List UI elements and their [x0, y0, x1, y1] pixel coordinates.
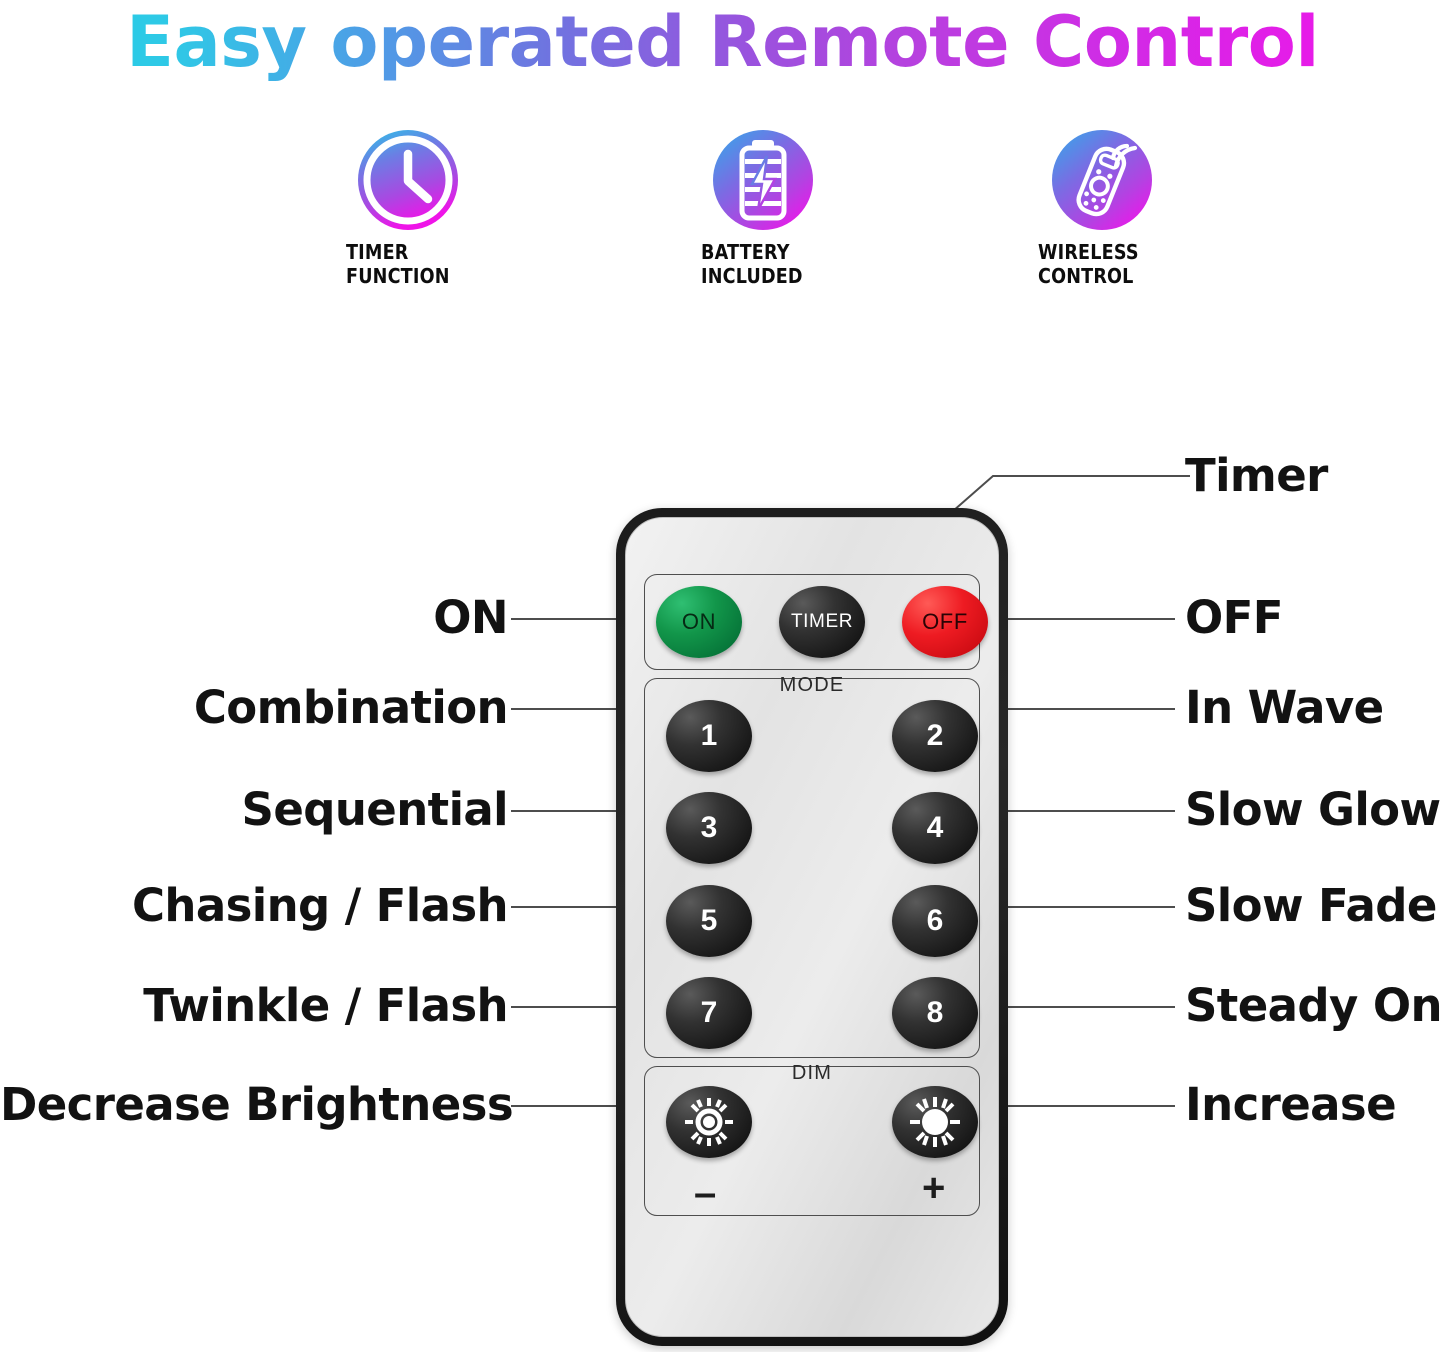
remote-button-mode-7[interactable]: 7 — [666, 977, 752, 1049]
remote-button-mode-2[interactable]: 2 — [892, 700, 978, 772]
button-label: 2 — [927, 719, 944, 753]
remote-button-dim-down[interactable] — [666, 1086, 752, 1158]
callout-decrease-brightness: Decrease Brightness — [0, 1079, 508, 1131]
button-label: OFF — [922, 609, 968, 635]
remote-button-mode-8[interactable]: 8 — [892, 977, 978, 1049]
infographic-canvas: Easy operated Remote Control — [0, 0, 1445, 1352]
battery-icon — [711, 128, 815, 232]
button-label: 6 — [927, 904, 944, 938]
callout-off: OFF — [1185, 592, 1283, 644]
callout-steady-on: Steady On — [1185, 980, 1442, 1032]
remote-control-device: ON TIMER OFF MODE 1 2 3 4 — [616, 508, 1008, 1346]
remote-button-on[interactable]: ON — [656, 586, 742, 658]
dim-group-label: DIM — [626, 1062, 998, 1085]
clock-icon — [356, 128, 460, 232]
button-label: ON — [682, 609, 716, 635]
brightness-low-icon — [682, 1095, 736, 1149]
remote-button-mode-1[interactable]: 1 — [666, 700, 752, 772]
button-label: 5 — [701, 904, 718, 938]
callout-slow-fade: Slow Fade — [1185, 880, 1437, 932]
remote-button-mode-5[interactable]: 5 — [666, 885, 752, 957]
button-label: 1 — [701, 719, 718, 753]
button-label: 8 — [927, 996, 944, 1030]
button-label: 7 — [701, 996, 718, 1030]
callout-twinkle-flash: Twinkle / Flash — [80, 980, 508, 1032]
page-title: Easy operated Remote Control — [0, 0, 1445, 88]
button-label: TIMER — [791, 611, 853, 633]
mode-group-label: MODE — [626, 674, 998, 697]
callout-combination: Combination — [80, 682, 508, 734]
feature-badge-row: TIMER FUNCTION — [310, 128, 1300, 313]
remote-faceplate: ON TIMER OFF MODE 1 2 3 4 — [625, 517, 999, 1337]
feature-label: TIMER FUNCTION — [346, 240, 578, 288]
remote-button-mode-6[interactable]: 6 — [892, 885, 978, 957]
remote-button-off[interactable]: OFF — [902, 586, 988, 658]
callout-chasing-flash: Chasing / Flash — [80, 880, 508, 932]
button-label: 4 — [927, 811, 944, 845]
remote-button-timer[interactable]: TIMER — [779, 586, 865, 658]
dim-increase-symbol: + — [922, 1168, 945, 1208]
callout-increase: Increase — [1185, 1079, 1396, 1131]
feature-wireless-control: WIRELESS CONTROL — [1000, 128, 1300, 313]
callout-timer: Timer — [1185, 450, 1328, 502]
callout-slow-glow: Slow Glow — [1185, 784, 1440, 836]
dim-decrease-symbol: – — [694, 1173, 716, 1213]
callout-sequential: Sequential — [80, 784, 508, 836]
feature-timer-function: TIMER FUNCTION — [310, 128, 610, 313]
callout-on: ON — [80, 592, 508, 644]
remote-signal-icon — [1050, 128, 1154, 232]
remote-button-mode-3[interactable]: 3 — [666, 792, 752, 864]
button-label: 3 — [701, 811, 718, 845]
feature-label: BATTERY INCLUDED — [701, 240, 925, 288]
feature-battery-included: BATTERY INCLUDED — [655, 128, 955, 313]
feature-label: WIRELESS CONTROL — [1038, 240, 1269, 288]
remote-button-mode-4[interactable]: 4 — [892, 792, 978, 864]
callout-in-wave: In Wave — [1185, 682, 1384, 734]
remote-button-dim-up[interactable] — [892, 1086, 978, 1158]
brightness-high-icon — [908, 1095, 962, 1149]
